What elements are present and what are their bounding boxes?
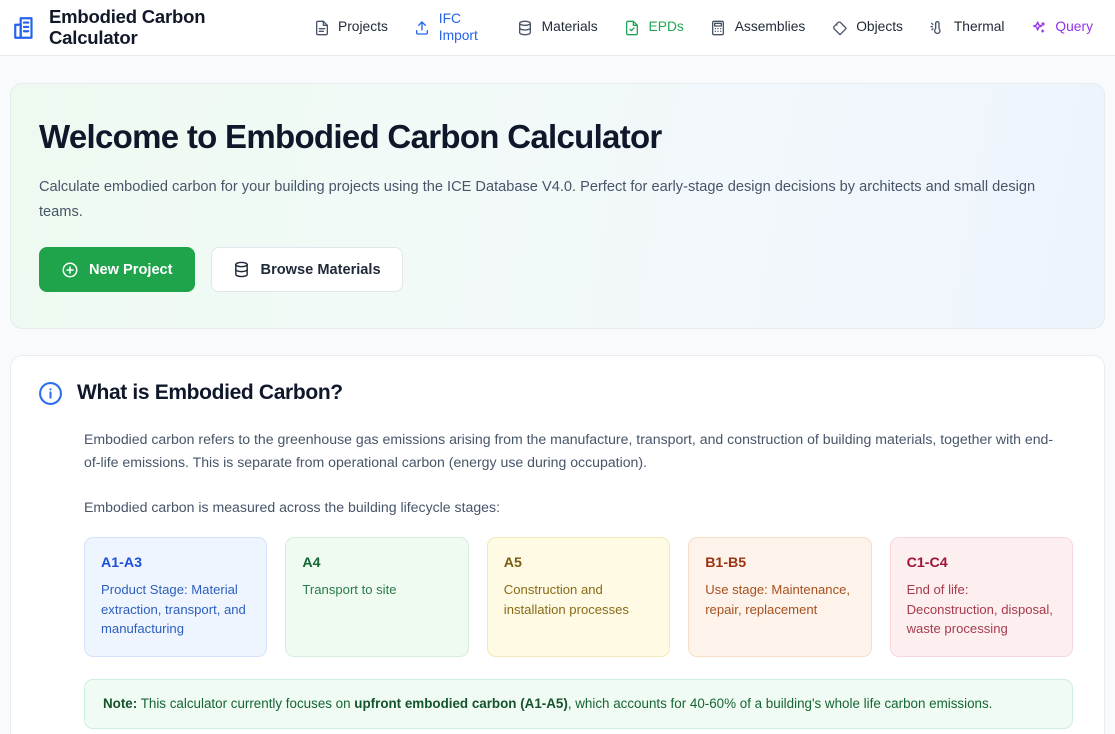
nav-label: Thermal bbox=[954, 19, 1005, 35]
nav-item-projects[interactable]: Projects bbox=[311, 16, 390, 39]
nav-item-query[interactable]: Query bbox=[1028, 16, 1095, 39]
card-header: What is Embodied Carbon? bbox=[37, 380, 1078, 406]
nav-label: Objects bbox=[856, 19, 903, 35]
sparkles-icon bbox=[1030, 19, 1047, 36]
calculator-icon bbox=[710, 19, 727, 36]
nav-label: IFC Import bbox=[439, 11, 491, 44]
nav-label: EPDs bbox=[649, 19, 684, 35]
embodied-carbon-info-card: What is Embodied Carbon? Embodied carbon… bbox=[10, 355, 1105, 734]
note-label: Note: bbox=[103, 696, 137, 711]
stage-card-b1-b5: B1-B5 Use stage: Maintenance, repair, re… bbox=[688, 537, 871, 657]
nav-label: Projects bbox=[338, 19, 388, 35]
card-body: Embodied carbon refers to the greenhouse… bbox=[37, 428, 1078, 729]
top-navigation-bar: Embodied Carbon Calculator Projects IFC … bbox=[0, 0, 1115, 56]
card-title: What is Embodied Carbon? bbox=[77, 381, 343, 405]
page-title: Welcome to Embodied Carbon Calculator bbox=[39, 118, 1074, 156]
lifecycle-stages-grid: A1-A3 Product Stage: Material extraction… bbox=[84, 537, 1073, 657]
note-text-before: This calculator currently focuses on bbox=[137, 696, 354, 711]
nav-item-epds[interactable]: EPDs bbox=[622, 16, 686, 39]
stage-card-c1-c4: C1-C4 End of life: Deconstruction, dispo… bbox=[890, 537, 1073, 657]
stage-card-a5: A5 Construction and installation process… bbox=[487, 537, 670, 657]
page-content: Welcome to Embodied Carbon Calculator Ca… bbox=[0, 56, 1115, 734]
database-icon bbox=[517, 19, 534, 36]
stage-description: Construction and installation processes bbox=[504, 580, 654, 619]
stage-description: Use stage: Maintenance, repair, replacem… bbox=[705, 580, 855, 619]
new-project-button[interactable]: New Project bbox=[39, 247, 195, 292]
upload-icon bbox=[414, 19, 431, 36]
stage-description: End of life: Deconstruction, disposal, w… bbox=[907, 580, 1057, 639]
stage-code: C1-C4 bbox=[907, 555, 1057, 572]
plus-circle-icon bbox=[61, 261, 79, 279]
welcome-description: Calculate embodied carbon for your build… bbox=[39, 175, 1049, 225]
document-icon bbox=[313, 19, 330, 36]
brand-logo[interactable]: Embodied Carbon Calculator bbox=[10, 7, 275, 49]
stage-code: A5 bbox=[504, 555, 654, 572]
note-banner: Note: This calculator currently focuses … bbox=[84, 679, 1073, 729]
definition-paragraph: Embodied carbon refers to the greenhouse… bbox=[84, 428, 1059, 475]
stage-code: A4 bbox=[302, 555, 452, 572]
stage-card-a4: A4 Transport to site bbox=[285, 537, 468, 657]
nav-item-materials[interactable]: Materials bbox=[515, 16, 600, 39]
hero-actions: New Project Browse Materials bbox=[39, 247, 1074, 292]
nav-label: Materials bbox=[542, 19, 598, 35]
nav-label: Query bbox=[1055, 19, 1093, 35]
stage-card-a1-a3: A1-A3 Product Stage: Material extraction… bbox=[84, 537, 267, 657]
new-project-label: New Project bbox=[89, 262, 173, 278]
stage-code: A1-A3 bbox=[101, 555, 251, 572]
nav-item-objects[interactable]: Objects bbox=[829, 16, 905, 39]
main-nav: Projects IFC Import Materials bbox=[275, 8, 1097, 47]
lifecycle-intro-paragraph: Embodied carbon is measured across the b… bbox=[84, 496, 1073, 519]
nav-label: Assemblies bbox=[735, 19, 806, 35]
nav-item-ifc-import[interactable]: IFC Import bbox=[412, 8, 493, 47]
building-icon bbox=[10, 13, 40, 43]
browse-materials-label: Browse Materials bbox=[261, 262, 381, 278]
nav-item-assemblies[interactable]: Assemblies bbox=[708, 16, 808, 39]
stage-description: Product Stage: Material extraction, tran… bbox=[101, 580, 251, 639]
file-check-icon bbox=[624, 19, 641, 36]
note-highlight: upfront embodied carbon (A1-A5) bbox=[354, 696, 568, 711]
browse-materials-button[interactable]: Browse Materials bbox=[211, 247, 403, 292]
thermometer-icon bbox=[929, 19, 946, 36]
info-circle-icon bbox=[37, 380, 63, 406]
nav-item-thermal[interactable]: Thermal bbox=[927, 16, 1007, 39]
note-text-after: , which accounts for 40-60% of a buildin… bbox=[568, 696, 993, 711]
app-title: Embodied Carbon Calculator bbox=[49, 7, 229, 49]
stage-description: Transport to site bbox=[302, 580, 452, 600]
welcome-banner: Welcome to Embodied Carbon Calculator Ca… bbox=[10, 83, 1105, 329]
database-icon bbox=[233, 261, 251, 279]
stage-code: B1-B5 bbox=[705, 555, 855, 572]
tag-icon bbox=[831, 19, 848, 36]
